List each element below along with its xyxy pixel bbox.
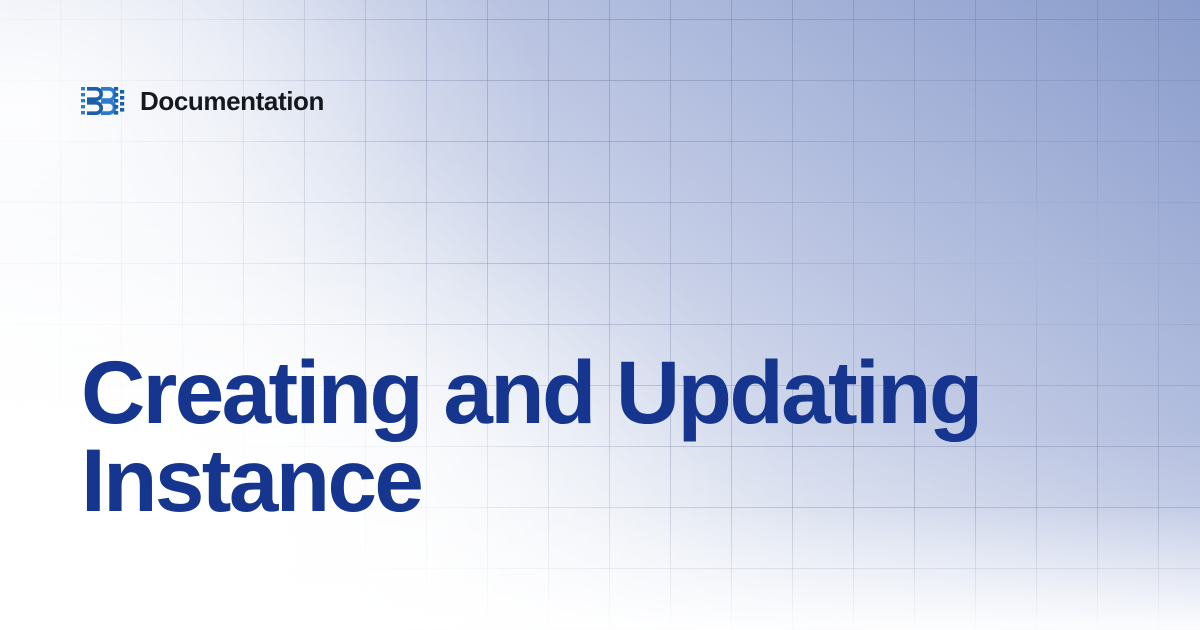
brand-name-label: Documentation	[140, 88, 324, 114]
og-banner-card: Documentation Creating and Updating Inst…	[0, 0, 1200, 630]
banner-content: Documentation Creating and Updating Inst…	[0, 0, 1200, 630]
banner-logo-icon	[81, 86, 125, 116]
page-title: Creating and Updating Instance	[81, 348, 1081, 524]
brand-lockup: Documentation	[81, 80, 324, 122]
